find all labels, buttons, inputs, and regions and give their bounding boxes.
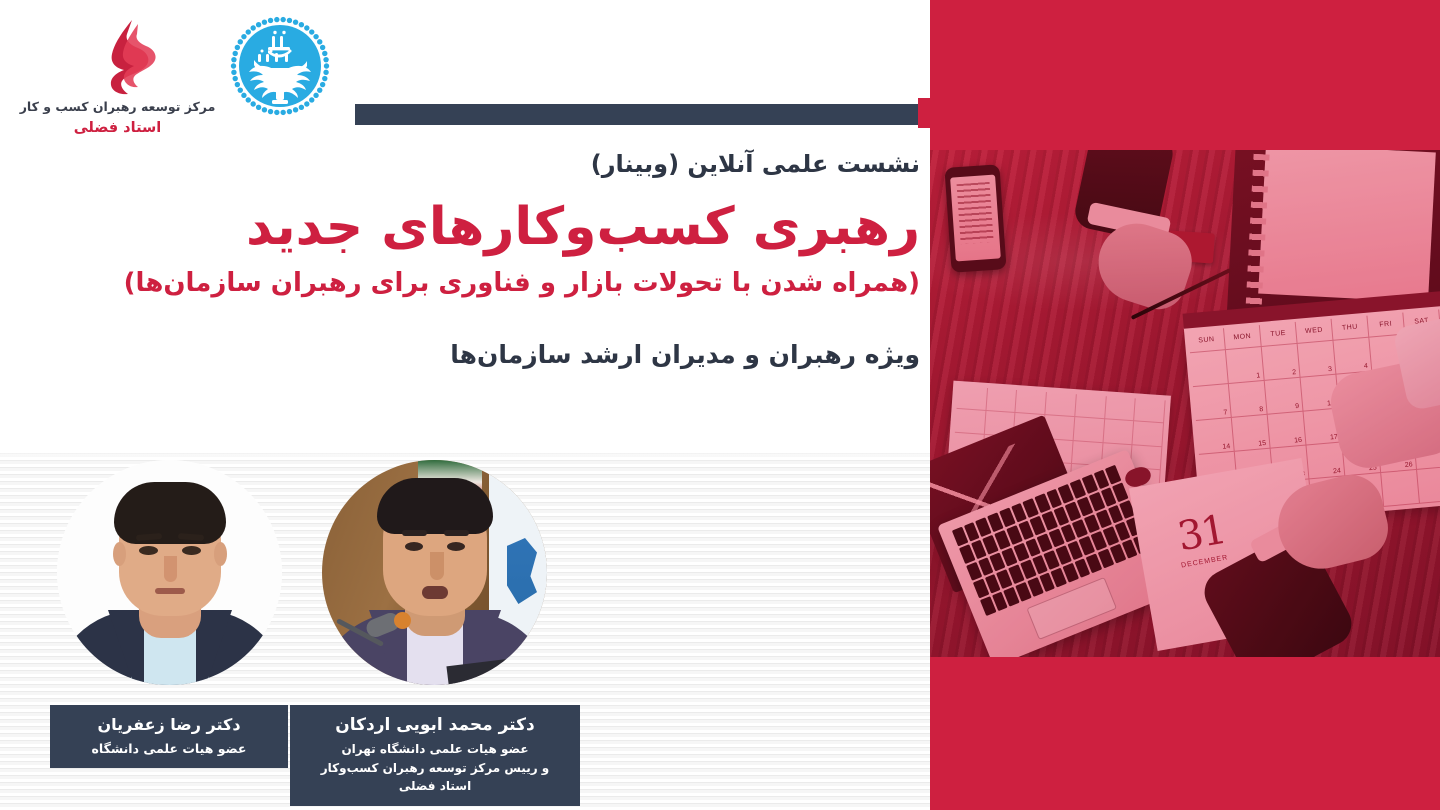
- logo-block: مرکز توسعه رهبران کسب و کار استاد فضلی: [0, 0, 350, 150]
- page-title: رهبری کسب‌وکارهای جدید: [60, 196, 920, 259]
- red-accent-tab: [918, 98, 932, 128]
- navy-divider-bar: [355, 104, 930, 125]
- red-panel: CALENDAR SUNMONTUEWEDTHUFRISAT1234567891…: [930, 0, 1440, 810]
- cedbl-logo-caption: مرکز توسعه رهبران کسب و کار استاد فضلی: [10, 98, 225, 140]
- page-subtitle: (همراه شدن با تحولات بازار و فناوری برای…: [60, 265, 920, 301]
- photo-duotone-overlay: [930, 150, 1440, 657]
- speaker-card-2: [322, 460, 547, 685]
- speaker-nameplate-2: دکتر محمد ابویی اردکان عضو هیات علمی دان…: [290, 705, 580, 806]
- speaker-role: عضو هیات علمی دانشگاه: [58, 739, 280, 758]
- speaker-name: دکتر رضا زعفریان: [58, 714, 280, 736]
- desk-planning-photo: CALENDAR SUNMONTUEWEDTHUFRISAT1234567891…: [930, 150, 1440, 657]
- poster-canvas: CALENDAR SUNMONTUEWEDTHUFRISAT1234567891…: [0, 0, 1440, 810]
- cedbl-caption-line1: مرکز توسعه رهبران کسب و کار: [20, 99, 216, 114]
- speakers-section: دکتر رضا زعفریان عضو هیات علمی دانشگاه د…: [0, 450, 930, 810]
- headline-block: نشست علمی آنلاین (وبینار) رهبری کسب‌وکار…: [60, 150, 920, 369]
- speaker-name: دکتر محمد ابویی اردکان: [298, 714, 572, 737]
- target-audience: ویژه رهبران و مدیران ارشد سازمان‌ها: [60, 340, 920, 369]
- avatar: [322, 460, 547, 685]
- event-kicker: نشست علمی آنلاین (وبینار): [60, 150, 920, 178]
- speaker-role: عضو هیات علمی دانشگاه تهران و رییس مرکز …: [298, 740, 572, 796]
- speaker-card-1: [57, 460, 282, 685]
- speaker-nameplate-1: دکتر رضا زعفریان عضو هیات علمی دانشگاه: [50, 705, 288, 768]
- cedbl-caption-line2: استاد فضلی: [10, 118, 225, 140]
- university-of-tehran-logo-icon: [228, 14, 332, 118]
- cedbl-logo-icon: [92, 18, 164, 96]
- avatar: [57, 460, 282, 685]
